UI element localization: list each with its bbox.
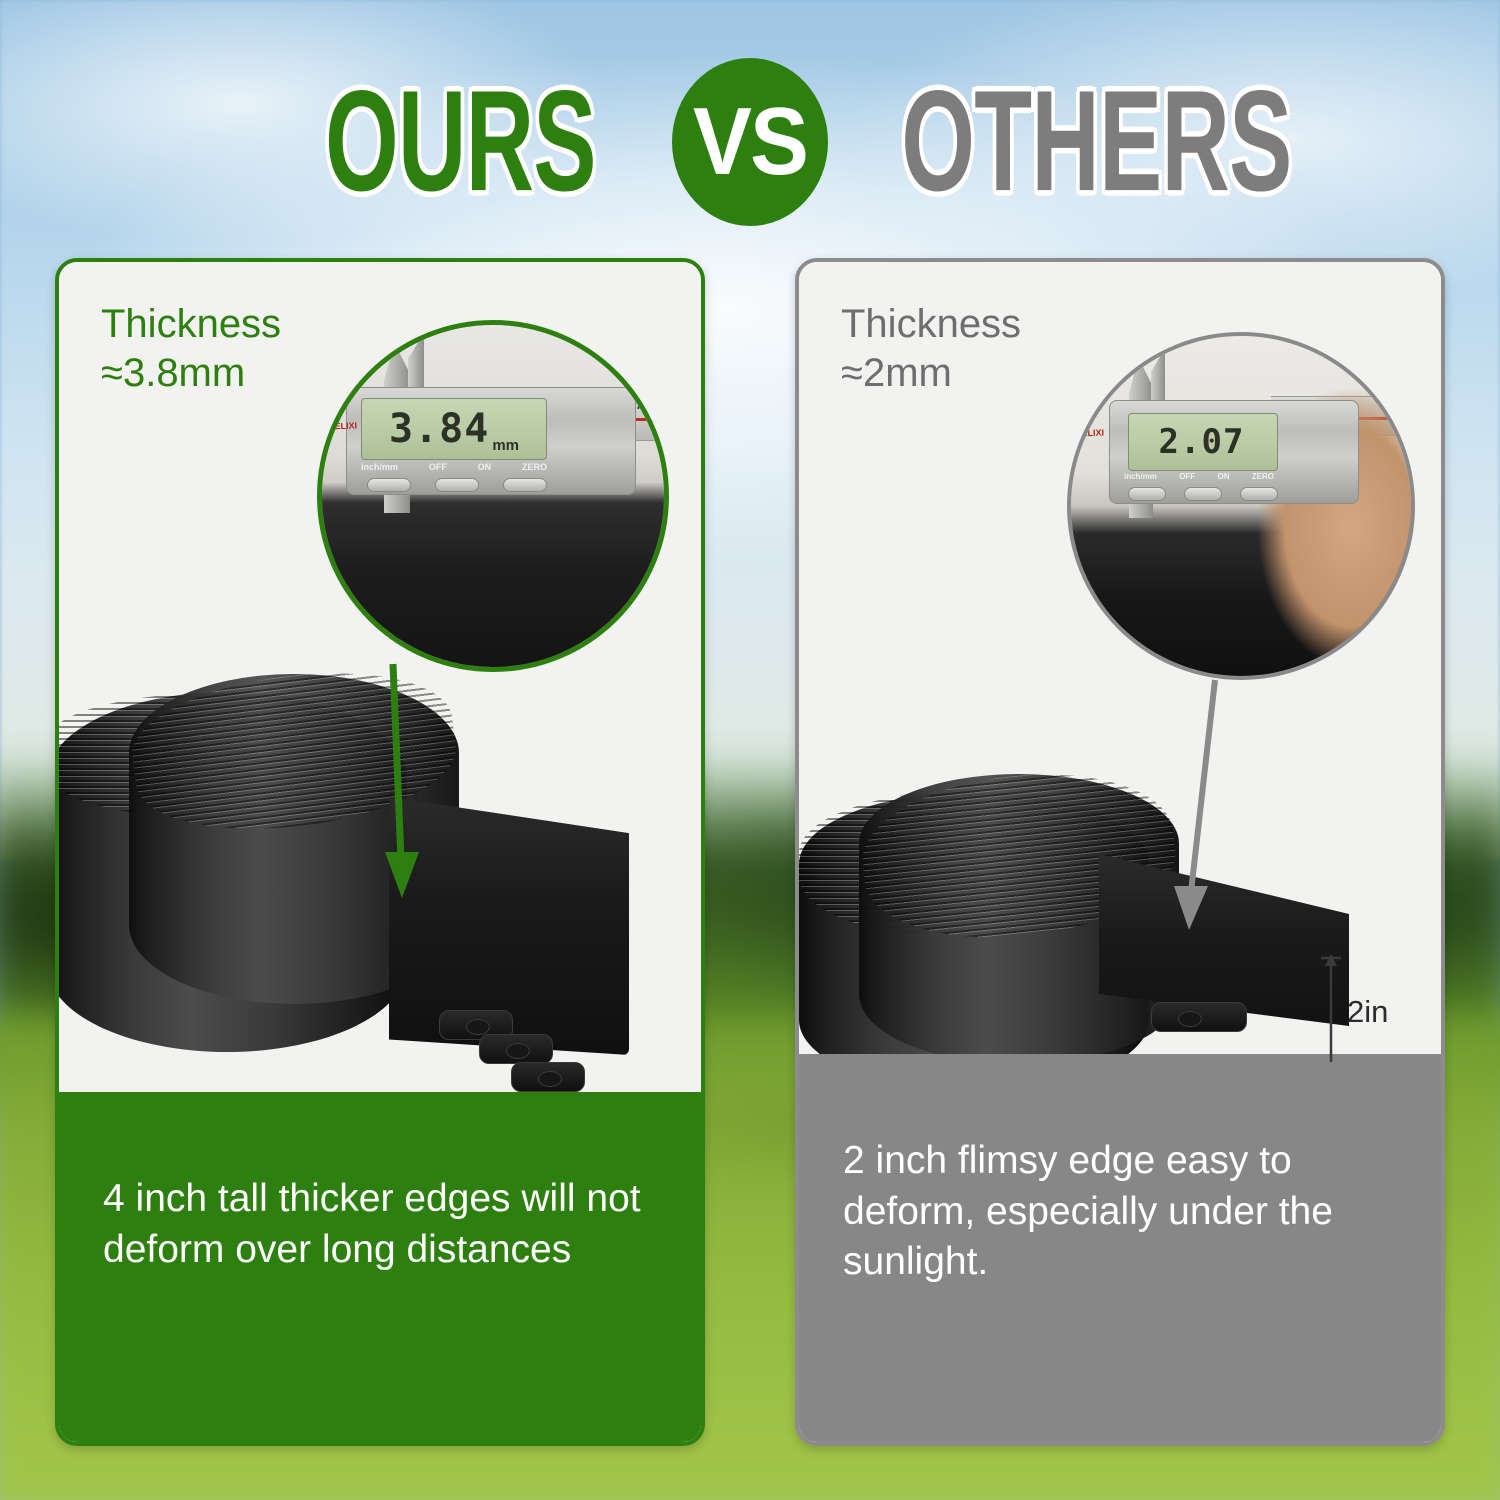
others-caption-text: 2 inch flimsy edge easy to deform, espec… — [843, 1139, 1333, 1283]
others-caliper-button[interactable] — [1128, 487, 1166, 501]
ours-caliper-scale-number: 70 — [636, 397, 650, 412]
ours-caliper-keys: inch/mm OFF ON ZERO — [361, 462, 547, 472]
others-pointer-arrow-icon — [1157, 674, 1247, 944]
others-key-inchmm[interactable]: inch/mm — [1124, 472, 1157, 481]
ours-caliper-inset: 70 3.84 mm inch/mm OFF ON ZERO DE — [317, 320, 669, 672]
panel-ours: Thickness ≈3.8mm 70 3.84 mm — [55, 258, 705, 1446]
others-key-zero[interactable]: ZERO — [1252, 472, 1274, 481]
ours-caliper-buttons — [367, 478, 547, 492]
others-dimension-arrow-icon — [1315, 954, 1347, 1062]
others-caption-bar: 2 inch flimsy edge easy to deform, espec… — [799, 1054, 1441, 1442]
others-caliper-keys: inch/mm OFF ON ZERO — [1124, 472, 1274, 481]
ours-key-on[interactable]: ON — [478, 462, 492, 472]
others-caliper-reading: 2.07 — [1159, 422, 1245, 462]
ours-caliper-reading: 3.84 — [389, 406, 489, 452]
others-hand — [1241, 336, 1415, 680]
ours-caliper-button[interactable] — [435, 478, 479, 492]
comparison-header: OURS VS OTHERS — [0, 62, 1500, 222]
ours-caliper-body: 3.84 mm inch/mm OFF ON ZERO — [346, 387, 636, 495]
others-caliper-button[interactable] — [1184, 487, 1222, 501]
others-caliper-brand: DELIXI — [1075, 427, 1104, 438]
others-thickness-label: Thickness ≈2mm — [841, 300, 1021, 398]
vs-badge: VS — [672, 58, 828, 226]
ours-thickness-label: Thickness ≈3.8mm — [101, 300, 281, 398]
header-ours-title: OURS — [288, 70, 606, 213]
ours-photo-area: Thickness ≈3.8mm 70 3.84 mm — [59, 262, 701, 1100]
others-caliper-buttons — [1128, 487, 1278, 501]
ours-key-off[interactable]: OFF — [429, 462, 447, 472]
ours-caliper-button[interactable] — [367, 478, 411, 492]
vs-label: VS — [693, 94, 807, 190]
header-others-title: OTHERS — [894, 70, 1212, 213]
ours-key-inchmm[interactable]: inch/mm — [361, 462, 398, 472]
ours-caliper-brand: DELIXI — [328, 420, 357, 431]
others-key-on[interactable]: ON — [1217, 472, 1229, 481]
ours-caliper-unit: mm — [492, 437, 519, 454]
others-key-off[interactable]: OFF — [1179, 472, 1195, 481]
others-caliper-body: 2.07 inch/mm OFF ON ZERO — [1109, 400, 1359, 504]
ours-caliper-button[interactable] — [503, 478, 547, 492]
others-caliper-inset: 2.07 inch/mm OFF ON ZERO DELIXI — [1067, 332, 1415, 680]
ours-caption-bar: 4 inch tall thicker edges will not defor… — [59, 1092, 701, 1442]
others-dimension-label: 2in — [1347, 994, 1388, 1030]
ours-pointer-arrow-icon — [371, 660, 441, 910]
others-caliper-screen: 2.07 — [1128, 413, 1278, 471]
panel-others: Thickness ≈2mm 2.07 inch/mm — [795, 258, 1445, 1446]
others-caliper-button[interactable] — [1240, 487, 1278, 501]
ours-key-zero[interactable]: ZERO — [522, 462, 547, 472]
ours-caliper-screen: 3.84 mm — [361, 398, 547, 460]
others-photo-area: Thickness ≈2mm 2.07 inch/mm — [799, 262, 1441, 1062]
ours-caption-text: 4 inch tall thicker edges will not defor… — [103, 1177, 641, 1271]
